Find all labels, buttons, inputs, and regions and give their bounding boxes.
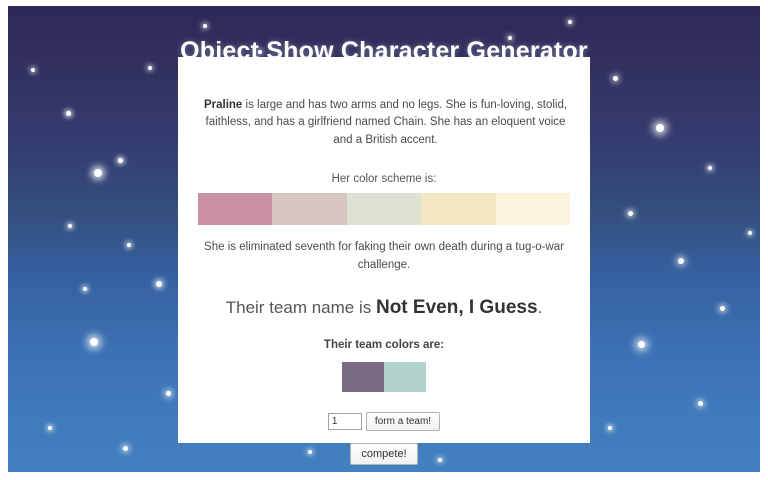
color-swatch-5 <box>496 193 570 225</box>
star-icon <box>90 338 98 346</box>
team-color-swatches <box>342 362 426 392</box>
color-swatch-1 <box>198 193 272 225</box>
star-icon <box>166 391 171 396</box>
star-icon <box>118 158 123 163</box>
color-swatch-3 <box>347 193 421 225</box>
star-icon <box>568 20 572 24</box>
starfield-background: Object Show Character Generator Praline … <box>8 6 760 472</box>
star-icon <box>748 231 752 235</box>
star-icon <box>608 426 612 430</box>
character-name: Praline <box>204 99 242 111</box>
color-swatch-4 <box>421 193 495 225</box>
compete-row: compete! <box>198 443 570 465</box>
team-count-input[interactable] <box>328 413 362 430</box>
team-colors-label: Their team colors are: <box>198 337 570 354</box>
color-scheme-swatches <box>198 193 570 225</box>
team-name-prefix: Their team name is <box>226 298 376 317</box>
star-icon <box>68 224 72 228</box>
team-name-suffix: . <box>538 298 543 317</box>
star-icon <box>94 169 102 177</box>
star-icon <box>156 281 162 287</box>
star-icon <box>656 124 664 132</box>
elimination-text: She is eliminated seventh for faking the… <box>204 239 564 274</box>
star-icon <box>83 287 87 291</box>
star-icon <box>638 341 645 348</box>
star-icon <box>698 401 703 406</box>
star-icon <box>66 111 71 116</box>
star-icon <box>628 211 633 216</box>
star-icon <box>708 166 712 170</box>
content-card: Praline is large and has two arms and no… <box>178 57 590 443</box>
star-icon <box>48 426 52 430</box>
team-name: Not Even, I Guess <box>376 297 538 318</box>
form-a-team-button[interactable]: form a team! <box>366 412 440 431</box>
team-color-swatch-1 <box>342 362 384 392</box>
team-form-row: form a team! <box>198 412 570 431</box>
star-icon <box>31 68 35 72</box>
star-icon <box>720 306 725 311</box>
star-icon <box>148 66 152 70</box>
star-icon <box>678 258 684 264</box>
star-icon <box>613 76 618 81</box>
team-color-swatch-2 <box>384 362 426 392</box>
star-icon <box>127 243 131 247</box>
color-swatch-2 <box>272 193 346 225</box>
team-name-line: Their team name is Not Even, I Guess. <box>198 294 570 322</box>
compete-button[interactable]: compete! <box>350 443 417 465</box>
color-scheme-label: Her color scheme is: <box>198 171 570 188</box>
star-icon <box>123 446 128 451</box>
character-description-text: is large and has two arms and no legs. S… <box>206 99 568 146</box>
page-title: Object Show Character Generator <box>8 37 760 66</box>
character-description: Praline is large and has two arms and no… <box>198 97 573 149</box>
app-window: Object Show Character Generator Praline … <box>0 0 768 480</box>
star-icon <box>203 24 207 28</box>
